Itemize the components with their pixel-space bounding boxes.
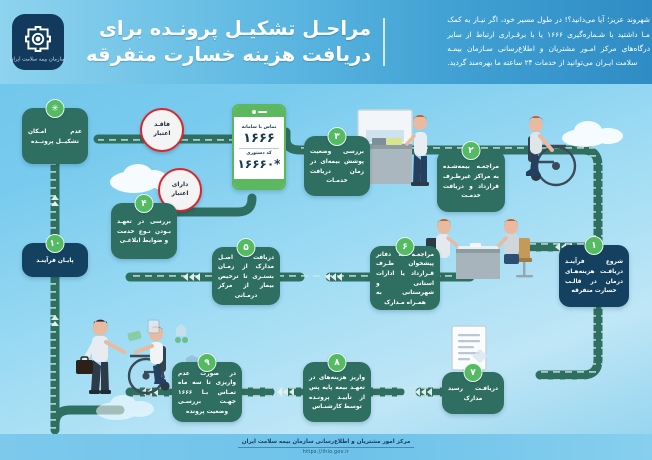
step-text-1: شروع فرآینـد دریافـت هزینه‌هـای درمان در… bbox=[565, 258, 623, 296]
phone-screen: تماس با سامانه ۱۶۶۶ کد دستوری *۱۶۶۶۰ bbox=[234, 117, 284, 179]
header-subtitle: شهروند عزیز؛ آیا می‌دانید؟! در طول مسیر … bbox=[395, 13, 652, 71]
step-badge-9: ۹ bbox=[198, 353, 217, 372]
step-text-6: مراجعـه به دفاتر پیشخوان طـرف قـرارداد ی… bbox=[376, 251, 434, 308]
page-header: سازمان بیمه سلامت ایران مراحـل تشکیـل پر… bbox=[0, 0, 652, 84]
step-node-4[interactable]: ۴ بررسی در تعهـد بـودن نـوع خدمت و ضوابط… bbox=[111, 203, 177, 259]
badge-valid-line1: دارای bbox=[172, 181, 188, 190]
step-node-9[interactable]: ۹ در صورت عدم واریزی تا سه ماه تمـاس بـا… bbox=[172, 362, 242, 422]
step-node-10[interactable]: ۱۰ پایـان فرآینـد bbox=[22, 243, 88, 277]
logo-caption: سازمان بیمه سلامت ایران bbox=[10, 56, 66, 62]
page-title: مراحـل تشکیـل پرونـده برای دریافت هزینه … bbox=[76, 16, 375, 67]
status-badge-invalid: فاقـد اعتبار bbox=[140, 108, 184, 152]
step-text-5: دریافت اصـل مدارک از زمـان بستـری تا ترخ… bbox=[218, 254, 274, 302]
step-badge-10: ۱۰ bbox=[46, 234, 65, 253]
phone-speaker-bar bbox=[234, 106, 284, 117]
page-footer: مرکز امور مشتریان و اطلاع‌رسانی سازمان ب… bbox=[0, 434, 652, 460]
step-text-9: در صورت عدم واریزی تا سه ماه تمـاس بـا ۱… bbox=[178, 370, 236, 418]
step-text-2: مراجعـه بیمه‌شـده به مراکز غیرطـرف قرارد… bbox=[443, 163, 499, 201]
organization-logo: سازمان بیمه سلامت ایران bbox=[12, 14, 64, 70]
footer-rule bbox=[238, 447, 414, 448]
step-text-8: واریز هزینه‌های در تعهـد بیمه پایه پس از… bbox=[309, 374, 365, 412]
step-text-no-file: عدم امـکان تشکیــل پرونــده bbox=[28, 128, 82, 147]
step-text-4: بررسی در تعهـد بـودن نـوع خدمت و ضوابط ا… bbox=[117, 218, 171, 247]
logo-container: سازمان بیمه سلامت ایران bbox=[0, 0, 76, 84]
badge-invalid-line1: فاقـد bbox=[154, 121, 170, 130]
step-node-6[interactable]: ۶ مراجعـه به دفاتر پیشخوان طـرف قـرارداد… bbox=[370, 246, 440, 310]
step-node-5[interactable]: ۵ دریافت اصـل مدارک از زمـان بستـری تا ت… bbox=[212, 247, 280, 305]
step-text-7: دریافـت رسید مدارک bbox=[448, 385, 498, 404]
phone-home-bar bbox=[234, 179, 284, 188]
phone-call-label: تماس با سامانه bbox=[242, 125, 277, 130]
step-badge-5: ۵ bbox=[237, 238, 256, 257]
step-node-8[interactable]: ۸ واریز هزینه‌های در تعهـد بیمه پایه پس … bbox=[303, 362, 371, 422]
step-node-3[interactable]: ۳ بررسی وضعیت پوشش بیمه‌ای در زمان دریاف… bbox=[304, 136, 370, 196]
page-title-line1: مراحـل تشکیـل پرونـده برای bbox=[86, 16, 371, 42]
badge-valid-line2: اعتبار bbox=[171, 190, 188, 199]
phone-divider bbox=[239, 148, 279, 149]
seal-logo-icon bbox=[22, 23, 54, 55]
badge-invalid-line2: اعتبار bbox=[153, 130, 170, 139]
step-badge-6: ۶ bbox=[396, 237, 415, 256]
step-badge-1: ۱ bbox=[585, 236, 604, 255]
step-badge-4: ۴ bbox=[135, 194, 154, 213]
step-node-1[interactable]: ۱ شروع فرآینـد دریافـت هزینه‌هـای درمان … bbox=[559, 245, 629, 307]
page-title-line2: دریافت هزینه خسارت متفرقه bbox=[86, 42, 371, 68]
step-node-no-file[interactable]: ✳ عدم امـکان تشکیــل پرونــده bbox=[22, 108, 88, 164]
step-text-10: پایـان فرآینـد bbox=[36, 257, 74, 267]
footer-url[interactable]: https://ihio.gov.ir bbox=[303, 450, 349, 455]
infographic-canvas: تماس با سامانه ۱۶۶۶ کد دستوری *۱۶۶۶۰ فاق… bbox=[0, 0, 652, 460]
step-node-7[interactable]: ۷ دریافـت رسید مدارک bbox=[442, 372, 504, 414]
step-node-2[interactable]: ۲ مراجعـه بیمه‌شـده به مراکز غیرطـرف قرا… bbox=[437, 150, 505, 212]
phone-ussd-code: *۱۶۶۶۰ bbox=[238, 157, 281, 171]
step-badge-8: ۸ bbox=[328, 353, 347, 372]
step-badge-2: ۲ bbox=[462, 141, 481, 160]
wheelchair-user-illustration bbox=[510, 110, 590, 188]
phone-code-label: کد دستوری bbox=[246, 151, 271, 156]
phone-number: ۱۶۶۶ bbox=[243, 131, 275, 146]
step-badge-7: ۷ bbox=[464, 363, 483, 382]
step-badge-3: ۳ bbox=[328, 127, 347, 146]
footer-organization: مرکز امور مشتریان و اطلاع‌رسانی سازمان ب… bbox=[242, 439, 411, 445]
step-badge-star: ✳ bbox=[46, 99, 65, 118]
step-text-3: بررسی وضعیت پوشش بیمه‌ای در زمان دریافت … bbox=[310, 148, 364, 186]
mobile-phone-card: تماس با سامانه ۱۶۶۶ کد دستوری *۱۶۶۶۰ bbox=[232, 104, 286, 190]
header-divider bbox=[383, 18, 385, 66]
